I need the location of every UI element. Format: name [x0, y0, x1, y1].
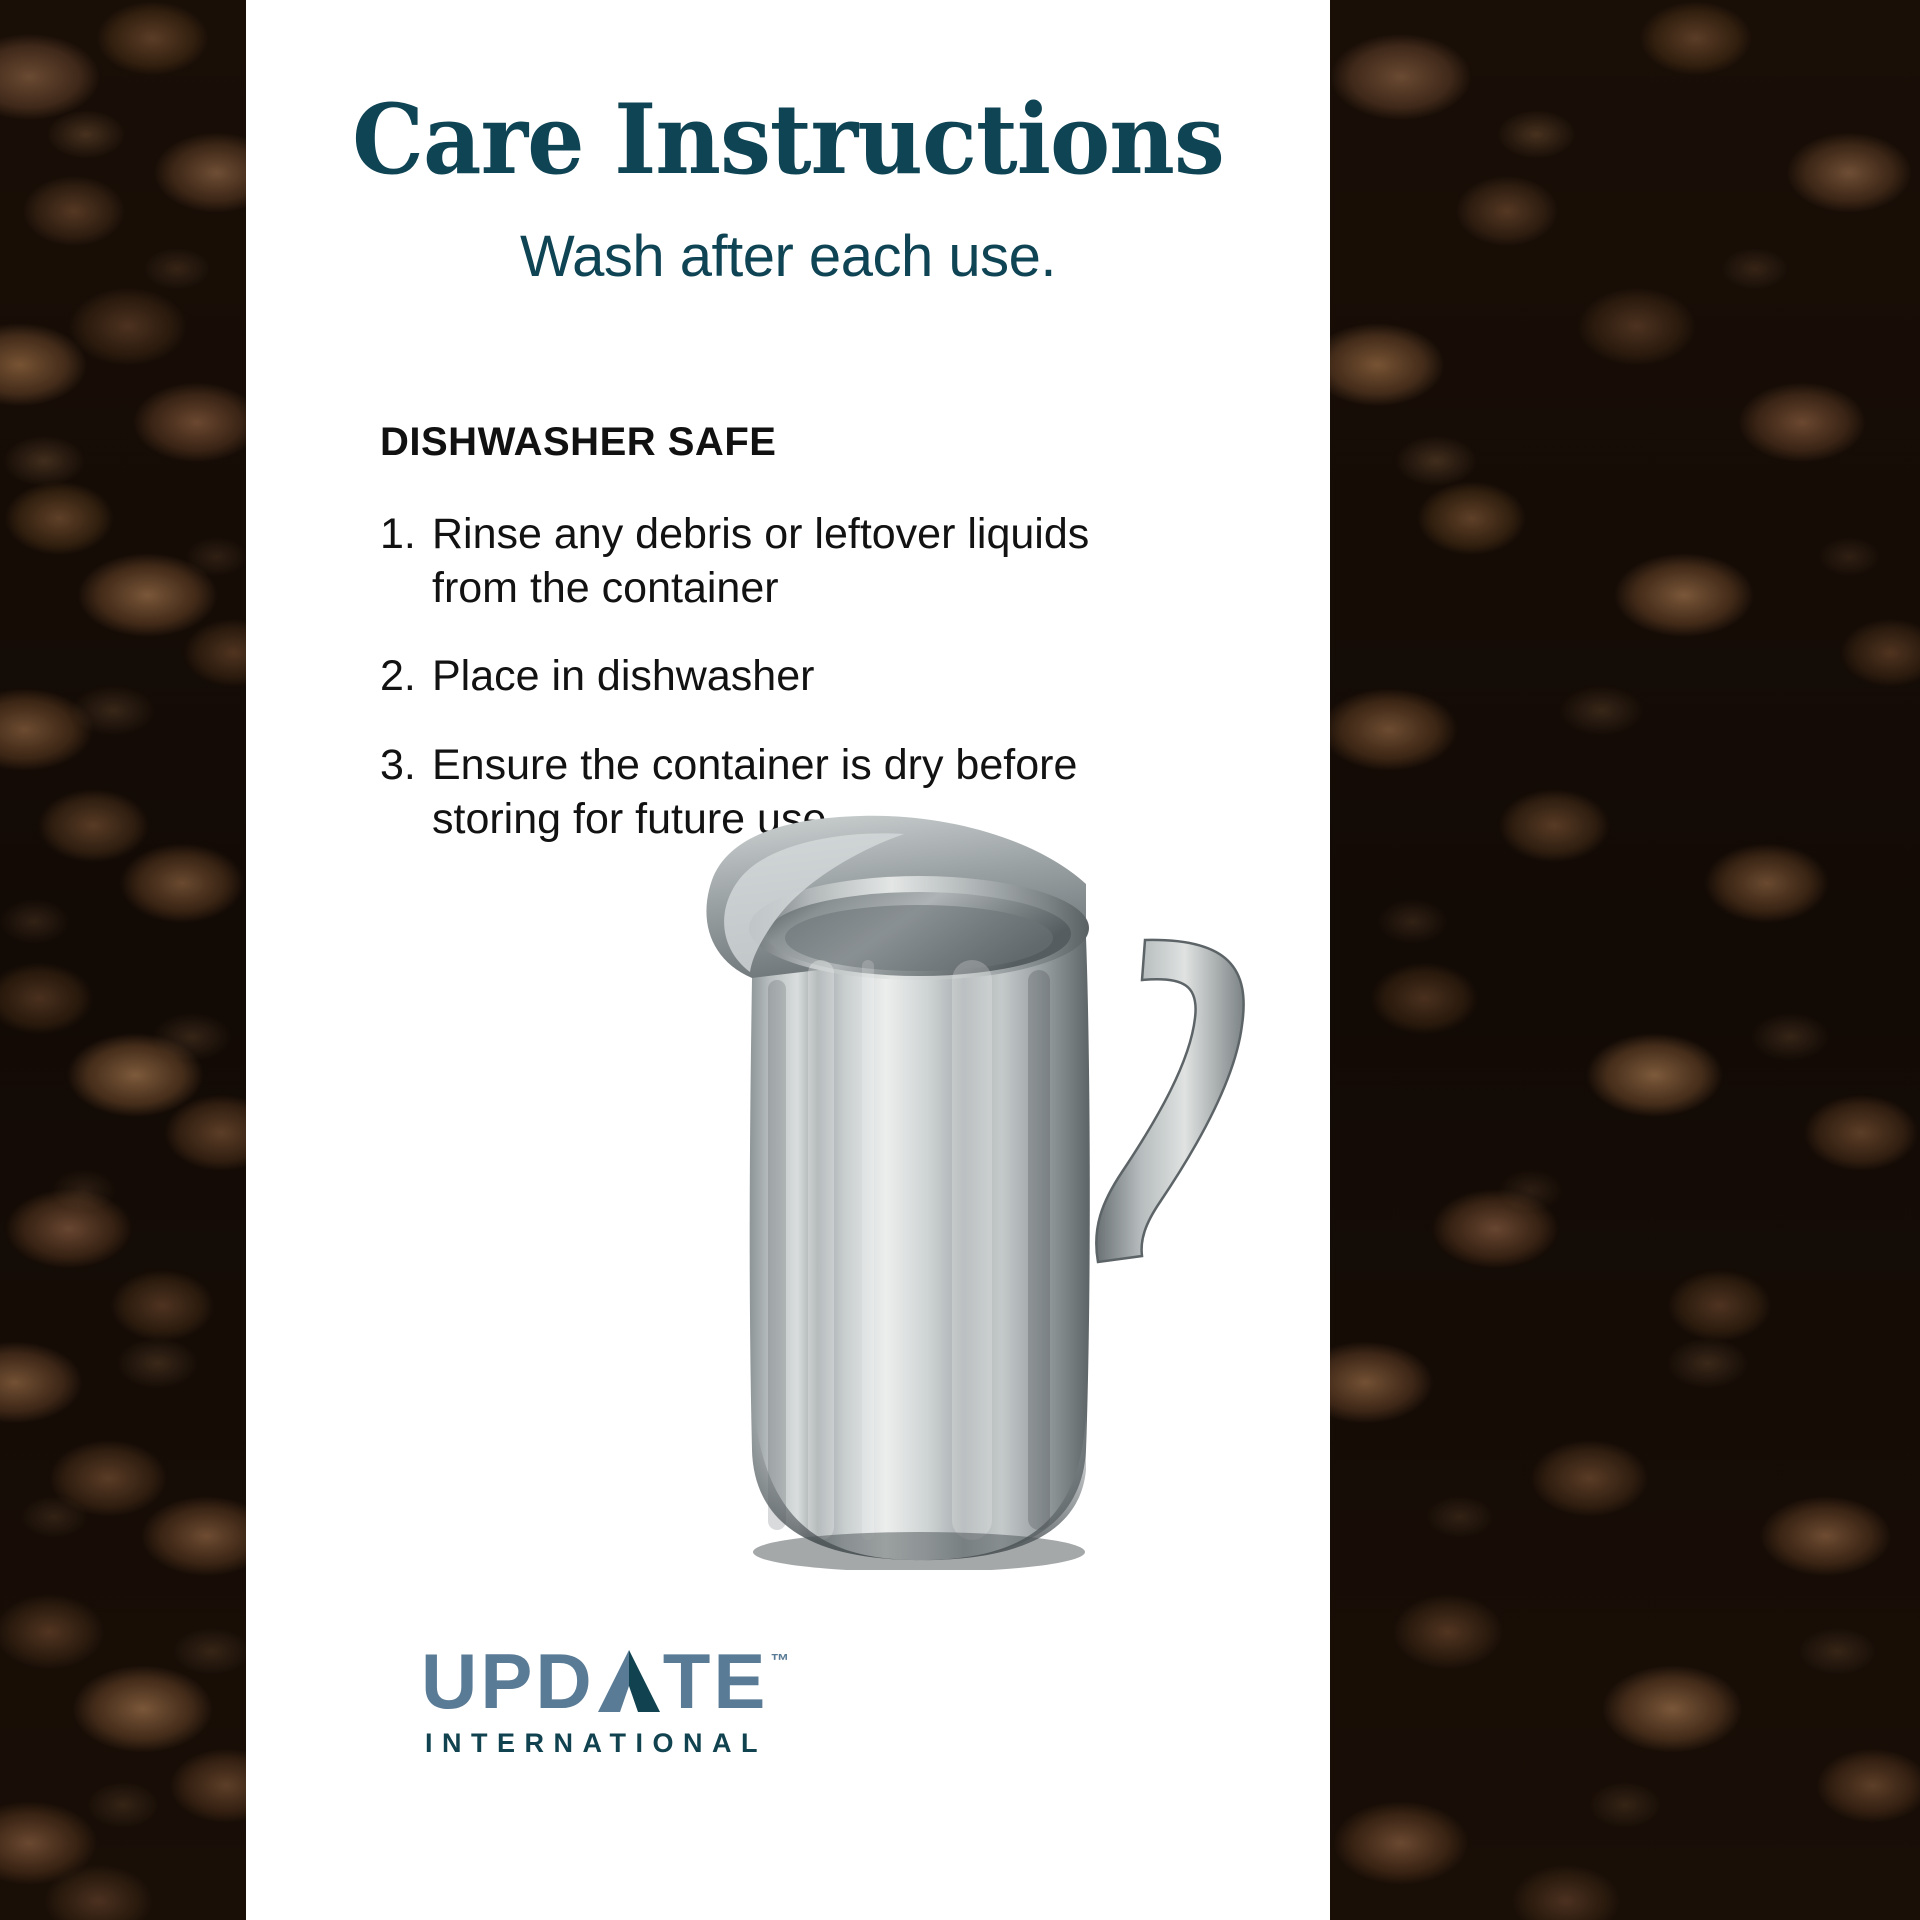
step-text: Place in dishwasher [432, 649, 1170, 703]
logo-text-te: TE [663, 1650, 769, 1712]
step-number: 3. [380, 738, 432, 792]
page-title: Care Instructions [279, 92, 1298, 188]
logo-a-chevron-icon [598, 1650, 660, 1712]
coffee-bean-background-left [0, 0, 246, 1920]
list-item: 3. Ensure the container is dry before st… [380, 738, 1170, 846]
brand-logo: UPD TE ™ INTERNATIONAL [421, 1650, 841, 1759]
logo-text-upd: UPD [421, 1650, 595, 1712]
section-heading-dishwasher-safe: DISHWASHER SAFE [380, 420, 1170, 465]
step-number: 1. [380, 507, 432, 561]
instructions-block: DISHWASHER SAFE 1. Rinse any debris or l… [380, 420, 1170, 846]
coffee-bean-background-right [1330, 0, 1920, 1920]
page-subtitle: Wash after each use. [246, 225, 1330, 289]
list-item: 2. Place in dishwasher [380, 649, 1170, 703]
list-item: 1. Rinse any debris or leftover liquids … [380, 507, 1170, 615]
trademark-symbol: ™ [770, 1652, 789, 1671]
step-text: Rinse any debris or leftover liquids fro… [432, 507, 1170, 615]
logo-tagline: INTERNATIONAL [425, 1728, 841, 1759]
step-number: 2. [380, 649, 432, 703]
logo-wordmark: UPD TE ™ [421, 1650, 841, 1712]
content-panel: Care Instructions Wash after each use. D… [246, 0, 1330, 1920]
care-instructions-poster: Care Instructions Wash after each use. D… [0, 0, 1920, 1920]
steps-list: 1. Rinse any debris or leftover liquids … [380, 507, 1170, 846]
step-text: Ensure the container is dry before stori… [432, 738, 1170, 846]
